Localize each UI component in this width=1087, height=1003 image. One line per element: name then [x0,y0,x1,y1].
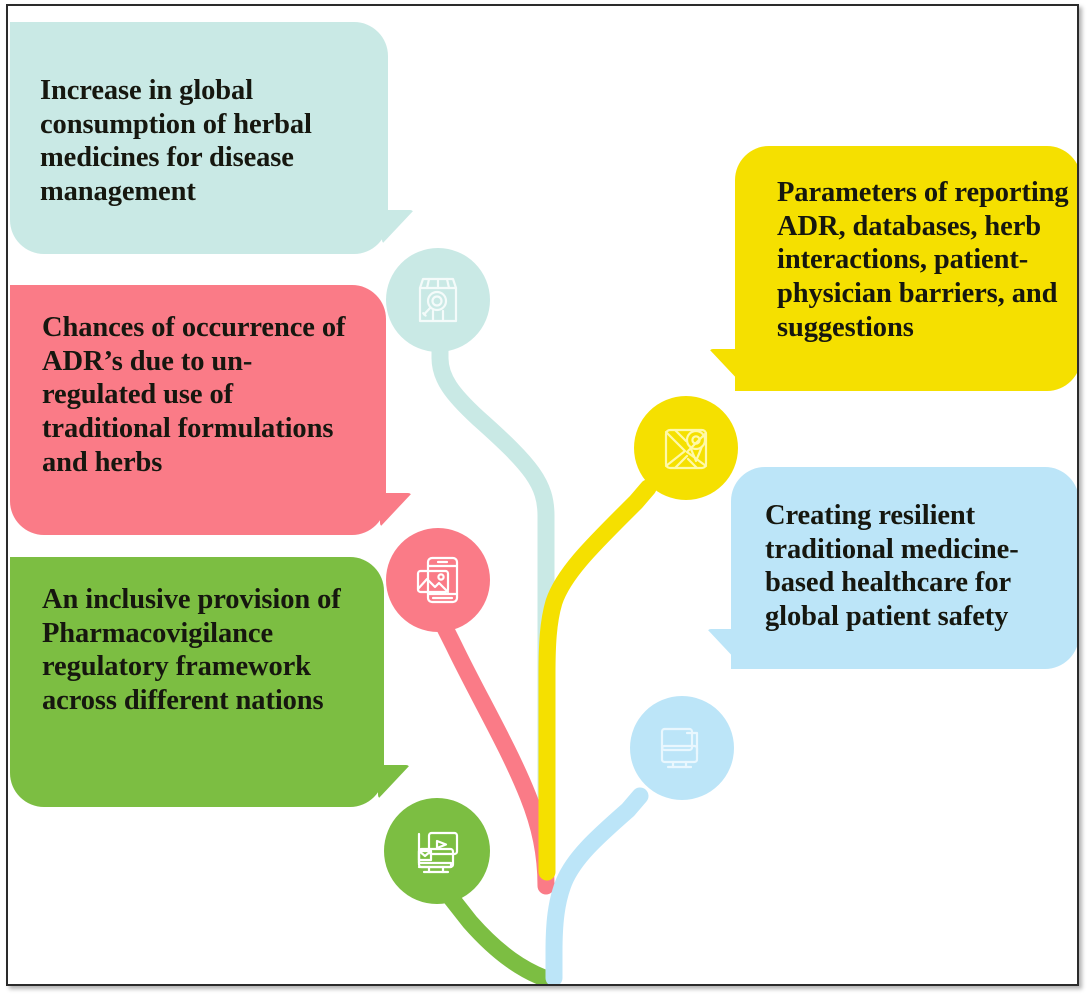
desktop-screens-icon [653,719,711,777]
callout-tail [382,210,414,244]
smartphone-media-icon [409,551,467,609]
callout-tail [380,493,412,527]
node-consumption[interactable] [386,248,490,352]
callout-resilient[interactable]: Creating resilient traditional medicine-… [731,467,1077,669]
callout-adr[interactable]: Chances of occurrence of ADR’s due to un… [10,285,386,535]
callout-tail [709,349,741,383]
node-pharmacovigilance[interactable] [384,798,490,904]
callout-consumption-text: Increase in global consumption of herbal… [40,74,364,209]
callout-parameters[interactable]: Parameters of reporting ADR, databases, … [735,146,1077,391]
package-search-icon [409,271,467,329]
monitor-video-mail-icon [407,821,467,881]
callout-adr-text: Chances of occurrence of ADR’s due to un… [42,311,366,479]
map-pin-icon [657,419,715,477]
callout-parameters-text: Parameters of reporting ADR, databases, … [777,176,1069,344]
callout-consumption[interactable]: Increase in global consumption of herbal… [10,22,388,254]
node-resilient[interactable] [630,696,734,800]
callout-tail [378,765,410,799]
node-parameters[interactable] [634,396,738,500]
node-adr[interactable] [386,528,490,632]
callout-resilient-text: Creating resilient traditional medicine-… [765,499,1065,634]
callout-tail [707,629,737,661]
infographic-figure: Increase in global consumption of herbal… [0,0,1087,1003]
callout-pharmacovigilance[interactable]: An inclusive provision of Pharmacovigila… [10,557,384,807]
connector-blue [554,796,640,978]
callout-pharmacovigilance-text: An inclusive provision of Pharmacovigila… [42,583,364,718]
figure-canvas: Increase in global consumption of herbal… [8,6,1077,984]
connector-green [448,894,544,978]
